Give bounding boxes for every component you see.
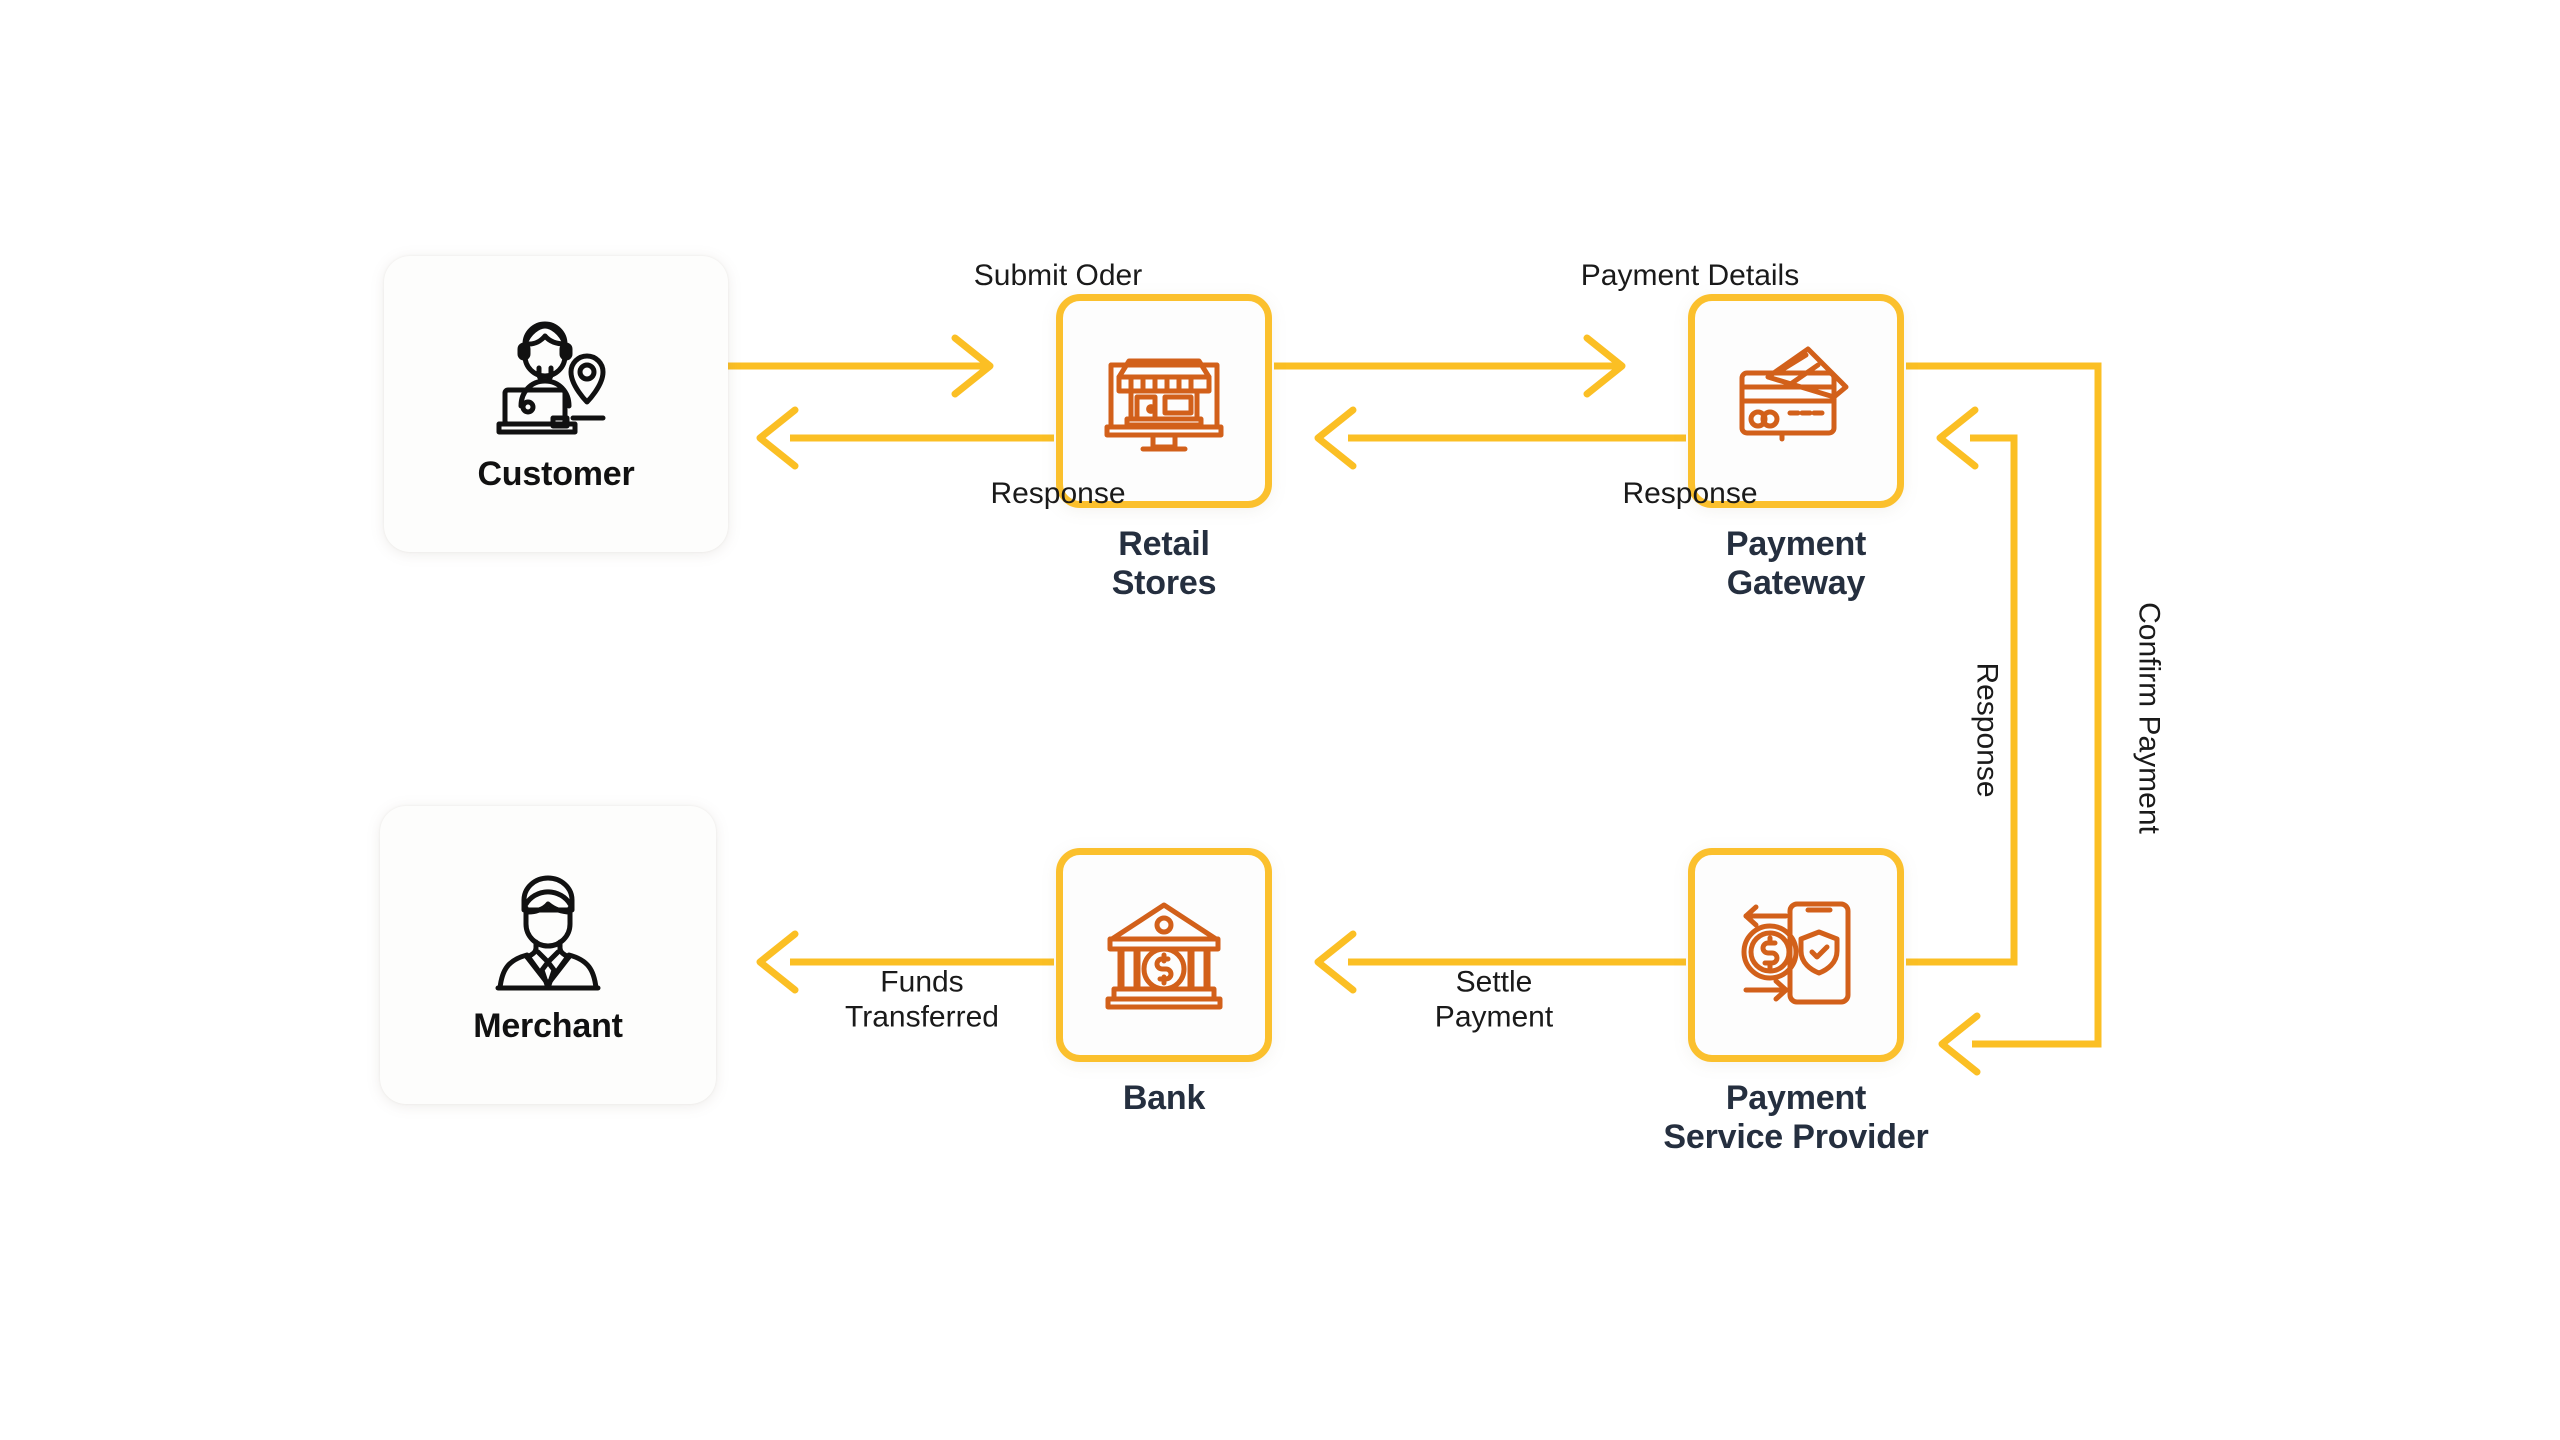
edge-label-payment-details: Payment Details [1581, 259, 1799, 294]
node-merchant[interactable]: Merchant [380, 806, 716, 1104]
edge-response-retail-customer [760, 410, 1054, 466]
merchant-suit-icon [478, 864, 618, 1001]
edge-label-confirm-payment: Confirm Payment [2131, 602, 2166, 834]
node-bank[interactable]: Bank [1056, 848, 1272, 1062]
node-customer[interactable]: Customer [384, 256, 728, 552]
edge-label-response-gateway-retail: Response [1622, 477, 1757, 512]
node-payment-gateway-label: Payment Gateway [1726, 525, 1866, 604]
edge-label-funds-transferred: Funds Transferred [845, 966, 999, 1035]
node-retail-stores-label: Retail Stores [1112, 525, 1217, 604]
customer-laptop-location-icon [481, 314, 631, 449]
edge-label-settle-payment: Settle Payment [1435, 966, 1553, 1035]
edge-payment-details [1274, 338, 1622, 394]
connector-layer [0, 0, 2560, 1440]
edge-label-response-retail-customer: Response [990, 477, 1125, 512]
storefront-monitor-icon [1101, 339, 1227, 464]
node-payment-service-provider-label: Payment Service Provider [1663, 1079, 1928, 1158]
node-merchant-label: Merchant [473, 1007, 623, 1046]
edge-response-gateway-retail [1318, 410, 1686, 466]
payment-flow-diagram: Customer Retail Stores [0, 0, 2560, 1440]
credit-cards-icon [1730, 341, 1862, 462]
edge-label-submit-order: Submit Oder [974, 259, 1142, 294]
node-bank-label: Bank [1123, 1079, 1205, 1118]
node-customer-label: Customer [477, 455, 634, 494]
node-payment-service-provider[interactable]: Payment Service Provider [1688, 848, 1904, 1062]
bank-building-icon [1102, 895, 1226, 1016]
phone-shield-money-transfer-icon [1732, 894, 1860, 1017]
edge-label-response-psp-gateway: Response [1969, 662, 2004, 797]
edge-submit-order [702, 338, 990, 394]
